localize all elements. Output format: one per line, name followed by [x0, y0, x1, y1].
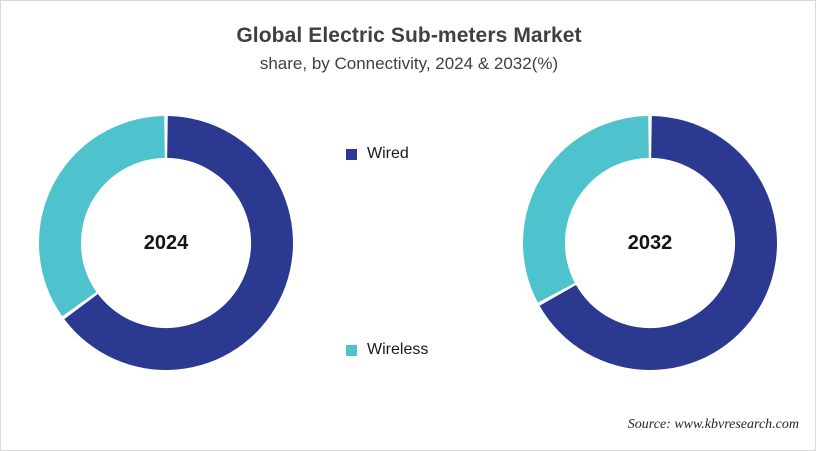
- page-title: Global Electric Sub-meters Market: [1, 23, 816, 49]
- donut-2032-slices: [523, 116, 777, 370]
- title-block: Global Electric Sub-meters Market share,…: [1, 23, 816, 76]
- donut-2024-svg: [32, 109, 300, 377]
- chart-subtitle: share, by Connectivity, 2024 & 2032(%): [1, 52, 816, 76]
- donut-chart-2032: 2032: [516, 109, 784, 377]
- source-attribution: Source: www.kbvresearch.com: [628, 417, 799, 433]
- legend-swatch-wireless-icon: [346, 345, 357, 356]
- donut-slice-wireless[interactable]: [523, 116, 649, 303]
- donut-chart-2024: 2024: [32, 109, 300, 377]
- chart-figure: Global Electric Sub-meters Market share,…: [0, 0, 816, 451]
- legend-item-wired[interactable]: Wired: [346, 145, 409, 163]
- legend-item-wireless[interactable]: Wireless: [346, 341, 428, 359]
- legend-label-wireless: Wireless: [367, 341, 428, 359]
- legend-swatch-wired-icon: [346, 149, 357, 160]
- donut-slice-wireless[interactable]: [39, 116, 165, 316]
- donut-2024-slices: [39, 116, 293, 370]
- legend-label-wired: Wired: [367, 145, 409, 163]
- donut-2032-svg: [516, 109, 784, 377]
